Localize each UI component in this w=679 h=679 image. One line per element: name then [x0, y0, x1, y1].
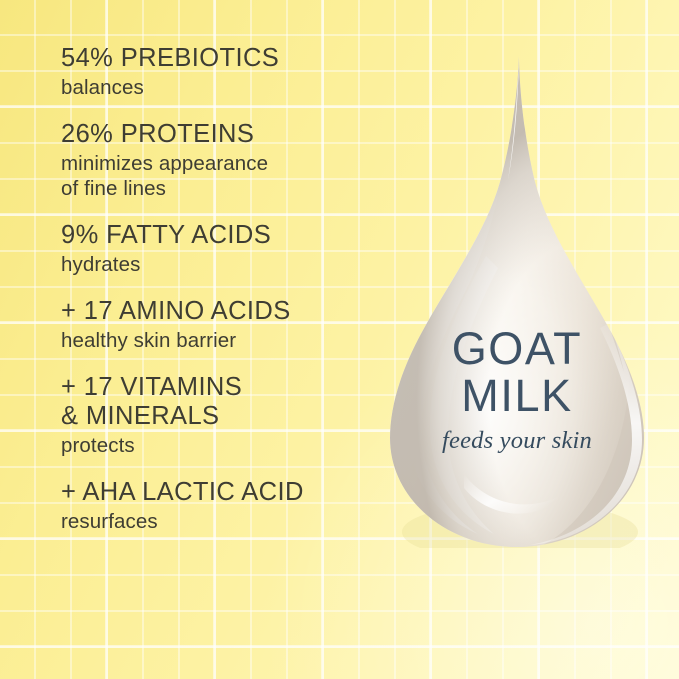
ingredient-title: + AHA LACTIC ACID — [61, 478, 391, 507]
ingredient-benefit: healthy skin barrier — [61, 328, 391, 353]
ingredient-title: 26% PROTEINS — [61, 120, 391, 149]
droplet-rim-shade — [378, 56, 656, 548]
ingredient-title: + 17 AMINO ACIDS — [61, 297, 391, 326]
goat-milk-infographic: 54% PREBIOTICS balances 26% PROTEINS min… — [0, 0, 679, 679]
ingredient-title: + 17 VITAMINS & MINERALS — [61, 373, 391, 431]
ingredient-benefit: minimizes appearance of fine lines — [61, 151, 391, 201]
ingredient-benefit: balances — [61, 75, 391, 100]
ingredient-item-vitamins-minerals: + 17 VITAMINS & MINERALS protects — [61, 373, 391, 458]
milk-droplet-illustration — [378, 56, 656, 548]
ingredient-benefit: protects — [61, 433, 391, 458]
ingredient-item-aha-lactic-acid: + AHA LACTIC ACID resurfaces — [61, 478, 391, 534]
ingredient-list: 54% PREBIOTICS balances 26% PROTEINS min… — [61, 44, 391, 534]
ingredient-item-proteins: 26% PROTEINS minimizes appearance of fin… — [61, 120, 391, 201]
ingredient-item-prebiotics: 54% PREBIOTICS balances — [61, 44, 391, 100]
ingredient-title: 9% FATTY ACIDS — [61, 221, 391, 250]
ingredient-benefit: resurfaces — [61, 509, 391, 534]
ingredient-item-fatty-acids: 9% FATTY ACIDS hydrates — [61, 221, 391, 277]
ingredient-title: 54% PREBIOTICS — [61, 44, 391, 73]
ingredient-item-amino-acids: + 17 AMINO ACIDS healthy skin barrier — [61, 297, 391, 353]
ingredient-benefit: hydrates — [61, 252, 391, 277]
